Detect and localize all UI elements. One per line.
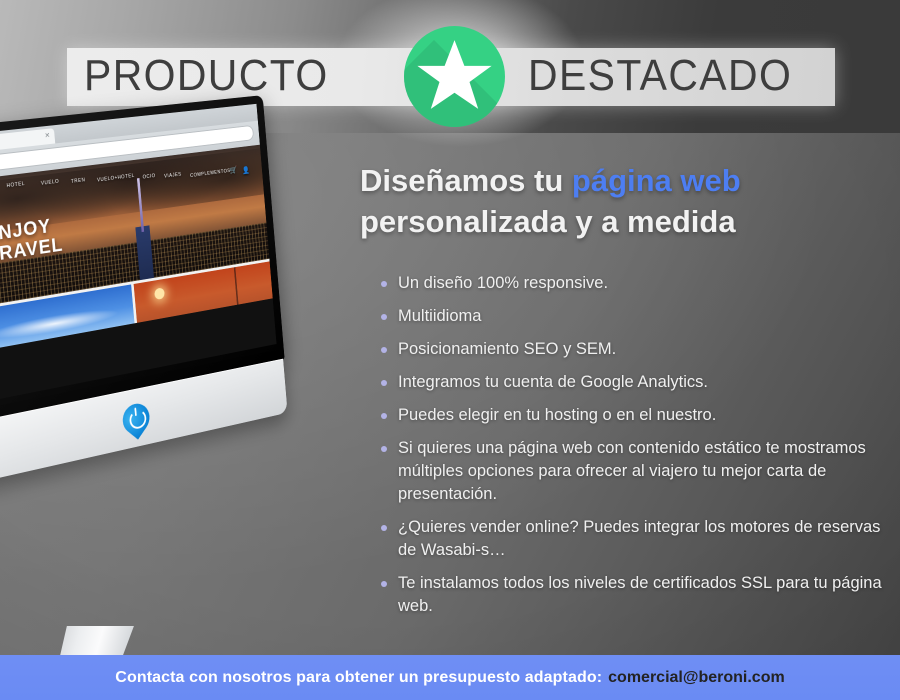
star-badge: [404, 26, 505, 127]
nav-item-tren[interactable]: TREN: [71, 177, 86, 184]
list-item: Integramos tu cuenta de Google Analytics…: [376, 371, 884, 394]
list-item: ¿Quieres vender online? Puedes integrar …: [376, 516, 884, 562]
monitor: ✕ HOTEL: [0, 95, 292, 521]
site-hero: HOTEL VUELO TREN VUELO+HOTEL OCIO VIAJES…: [0, 145, 273, 353]
imac-mockup: ✕ HOTEL: [0, 128, 342, 648]
headline-line1-prefix: Diseñamos tu: [360, 163, 572, 198]
nav-item-hotel[interactable]: HOTEL: [6, 181, 25, 189]
nav-item-viajes[interactable]: VIAJES: [164, 172, 182, 180]
list-item: Multiidioma: [376, 305, 884, 328]
contact-text: Contacta con nosotros para obtener un pr…: [115, 669, 602, 687]
list-item: Posicionamiento SEO y SEM.: [376, 338, 884, 361]
feature-list: Un diseño 100% responsive. Multiidioma P…: [376, 272, 884, 628]
header-word-left: PRODUCTO: [84, 48, 329, 106]
headline-accent: página web: [572, 163, 741, 198]
list-item: Si quieres una página web con contenido …: [376, 437, 884, 506]
power-pin-icon: [122, 401, 151, 440]
nav-item-vuelo-hotel[interactable]: VUELO+HOTEL: [97, 173, 135, 183]
contact-email[interactable]: comercial@beroni.com: [608, 669, 785, 687]
poster-canvas: PRODUCTO DESTACADO ✕: [0, 0, 900, 700]
list-item: Puedes elegir en tu hosting o en el nues…: [376, 404, 884, 427]
list-item: Te instalamos todos los niveles de certi…: [376, 572, 884, 618]
header-word-right: DESTACADO: [528, 48, 792, 106]
close-icon[interactable]: ✕: [45, 133, 50, 138]
contact-bar: Contacta con nosotros para obtener un pr…: [0, 655, 900, 700]
nav-item-ocio[interactable]: OCIO: [142, 173, 155, 180]
headline-line2: personalizada y a medida: [360, 204, 736, 239]
list-item: Un diseño 100% responsive.: [376, 272, 884, 295]
person-icon[interactable]: 👤: [242, 166, 250, 175]
shopping-cart-icon[interactable]: 🛒: [229, 166, 237, 175]
page-title: Diseñamos tu página web personalizada y …: [360, 160, 880, 242]
nav-item-vuelo[interactable]: VUELO: [41, 179, 60, 187]
star-icon: [415, 37, 494, 116]
